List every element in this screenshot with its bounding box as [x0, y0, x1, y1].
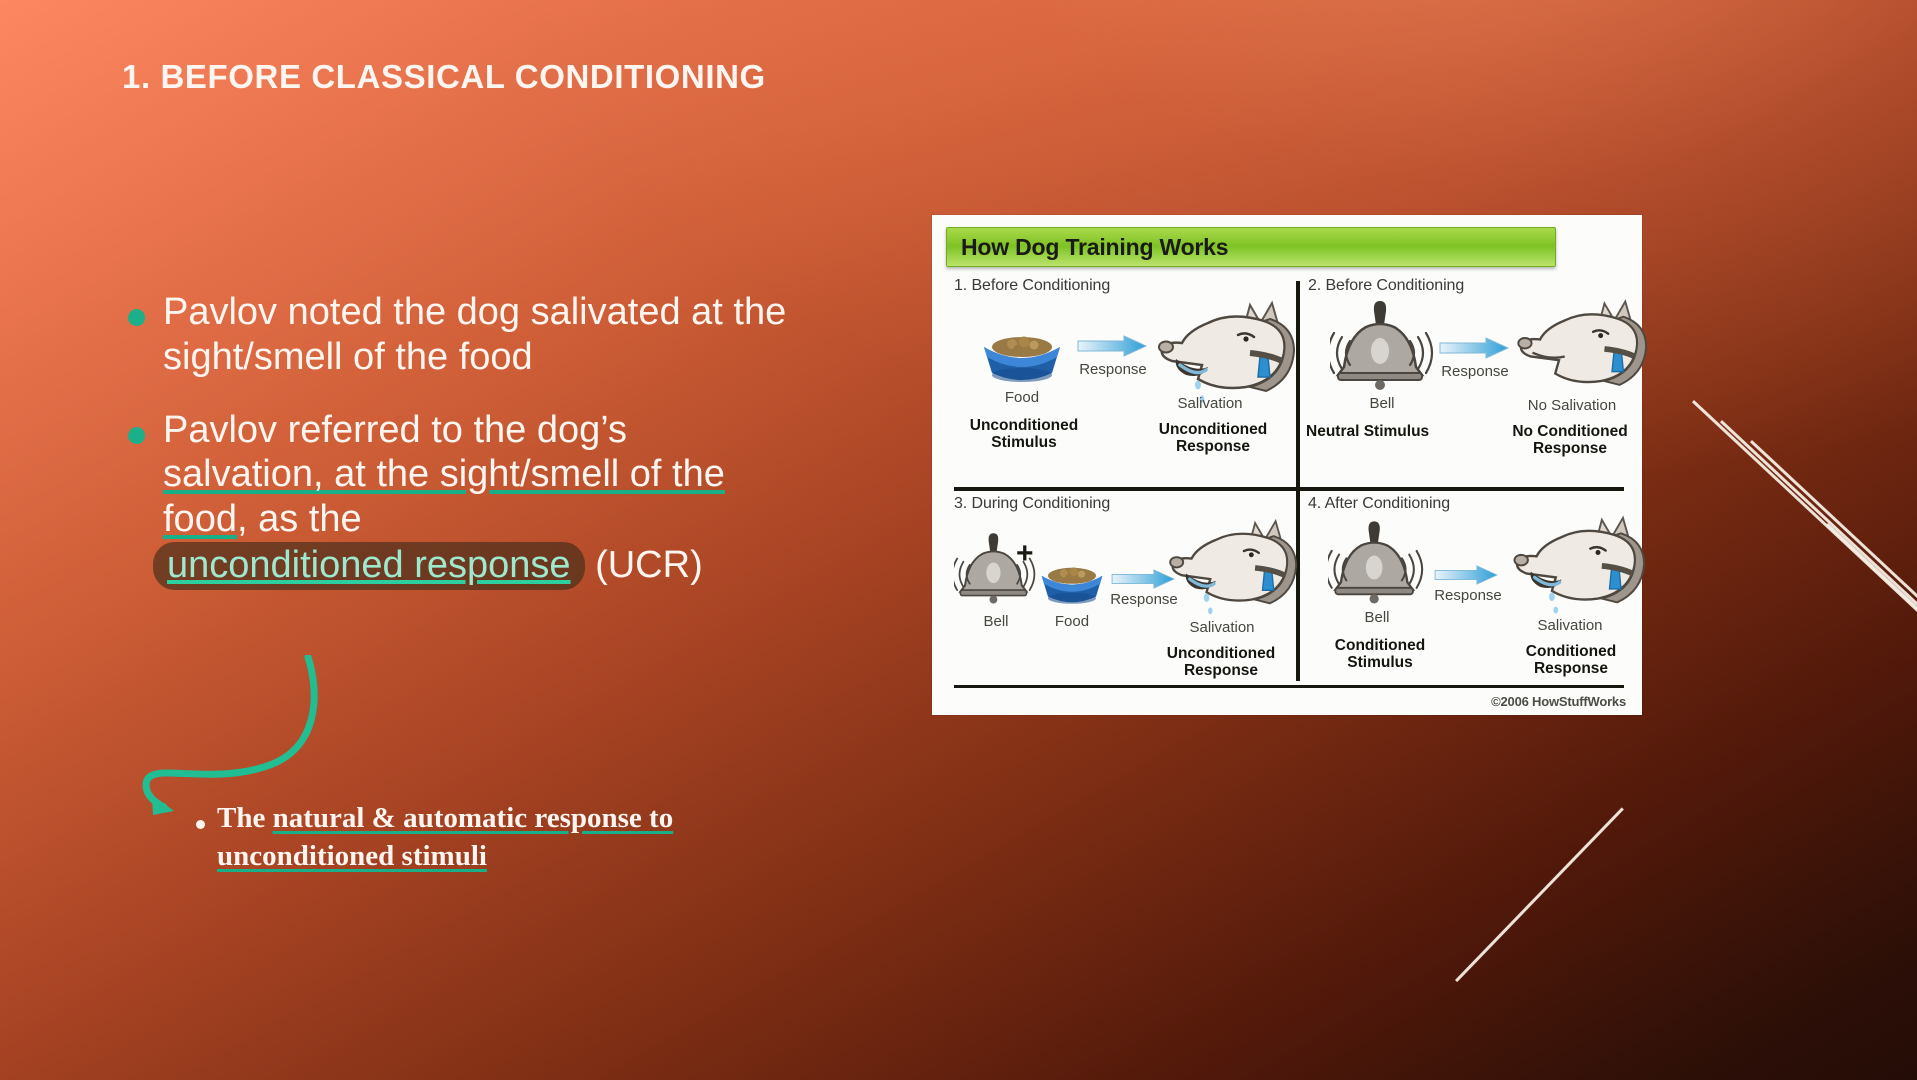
- dog-head-icon: [1506, 293, 1648, 401]
- list-item: Pavlov noted the dog salivated at the si…: [128, 290, 788, 380]
- how-dog-training-works-diagram: How Dog Training Works 1. Before Conditi…: [932, 215, 1642, 715]
- bullet-2-segment-plain-1: Pavlov referred to the dog’s: [163, 409, 627, 451]
- diagram-header-label: How Dog Training Works: [947, 234, 1228, 261]
- quadrant-3-title: 3. During Conditioning: [954, 495, 1110, 513]
- bullet-1-segment-plain: Pavlov noted the dog salivated at the si…: [163, 291, 786, 378]
- quadrant-2-stimulus-caption: Bell: [1334, 395, 1430, 412]
- quadrant-2-response-label: No Conditioned Response: [1492, 423, 1648, 458]
- response-arrow-icon: [1432, 565, 1500, 585]
- dog-food-bowl-icon: [972, 325, 1072, 387]
- quadrant-3-response-caption: Salivation: [1162, 619, 1282, 636]
- quadrant-1-response-caption: Salivation: [1150, 395, 1270, 412]
- quadrant-4: 4. After Conditioning Bell Conditioned S…: [1304, 495, 1648, 710]
- page-title: 1. BEFORE CLASSICAL CONDITIONING: [122, 58, 1422, 96]
- quadrant-4-arrow-caption: Response: [1426, 587, 1510, 604]
- quadrant-1-arrow-caption: Response: [1070, 361, 1156, 378]
- quadrant-3-stimulus-caption-2: Food: [1034, 613, 1110, 630]
- quadrant-2-stimulus-label: Neutral Stimulus: [1306, 423, 1486, 440]
- diagram-copyright: ©2006 HowStuffWorks: [1491, 694, 1626, 709]
- sub-bullet-segment-plain: The: [217, 802, 273, 834]
- response-arrow-icon: [1076, 335, 1148, 357]
- quadrant-1: 1. Before Conditioning Food Unconditione…: [950, 277, 1294, 492]
- dog-head-salivating-icon: [1502, 509, 1646, 619]
- plus-sign-icon: +: [1016, 537, 1034, 571]
- sub-bullet-dot-icon: [196, 820, 205, 829]
- quadrant-3-stimulus-caption: Bell: [956, 613, 1036, 630]
- hand-bell-icon: [1330, 299, 1434, 391]
- quadrant-4-response-label: Conditioned Response: [1496, 643, 1646, 678]
- bullet-dot-icon: [128, 427, 145, 444]
- quadrant-1-response-label: Unconditioned Response: [1138, 421, 1288, 456]
- quadrant-4-title: 4. After Conditioning: [1308, 495, 1450, 513]
- sub-bullet-text: The natural & automatic response to unco…: [217, 800, 756, 875]
- list-item: Pavlov referred to the dog’s salvation, …: [128, 408, 788, 590]
- bullet-2-text: Pavlov referred to the dog’s salvation, …: [163, 408, 788, 590]
- sub-bullet-segment-underlined: natural & automatic response to uncondit…: [217, 802, 673, 872]
- quadrant-3-response-label: Unconditioned Response: [1146, 645, 1296, 680]
- quadrant-4-stimulus-label: Conditioned Stimulus: [1312, 637, 1448, 672]
- bullet-list: Pavlov noted the dog salivated at the si…: [128, 290, 788, 600]
- quadrant-1-stimulus-label: Unconditioned Stimulus: [956, 417, 1092, 452]
- bullet-2-segment-plain-3: (UCR): [585, 544, 703, 586]
- slide-canvas: 1. BEFORE CLASSICAL CONDITIONING Pavlov …: [0, 0, 1917, 1080]
- hand-bell-icon: [1328, 519, 1424, 605]
- bullet-2-segment-plain-2: , as the: [237, 498, 362, 540]
- quadrant-4-stimulus-caption: Bell: [1332, 609, 1422, 626]
- bullet-1-text: Pavlov noted the dog salivated at the si…: [163, 290, 788, 380]
- dog-head-salivating-icon: [1158, 513, 1298, 619]
- bullet-dot-icon: [128, 309, 145, 326]
- dog-head-salivating-icon: [1146, 295, 1296, 407]
- quadrant-2: 2. Before Conditioning Bell Neutral Stim…: [1304, 277, 1648, 492]
- diagram-vertical-divider: [1296, 281, 1300, 681]
- quadrant-2-response-caption: No Salivation: [1502, 397, 1642, 414]
- dog-food-bowl-icon: [1032, 557, 1112, 609]
- quadrant-2-title: 2. Before Conditioning: [1308, 277, 1464, 295]
- quadrant-1-stimulus-caption: Food: [970, 389, 1074, 406]
- quadrant-4-response-caption: Salivation: [1508, 617, 1632, 634]
- response-arrow-icon: [1438, 337, 1510, 359]
- quadrant-1-title: 1. Before Conditioning: [954, 277, 1110, 295]
- sub-list-item: The natural & automatic response to unco…: [196, 800, 756, 875]
- quadrant-3: 3. During Conditioning Bell +: [950, 495, 1294, 710]
- highlighted-term-ucr: unconditioned response: [153, 542, 585, 590]
- diagram-header-bar: How Dog Training Works: [946, 227, 1556, 267]
